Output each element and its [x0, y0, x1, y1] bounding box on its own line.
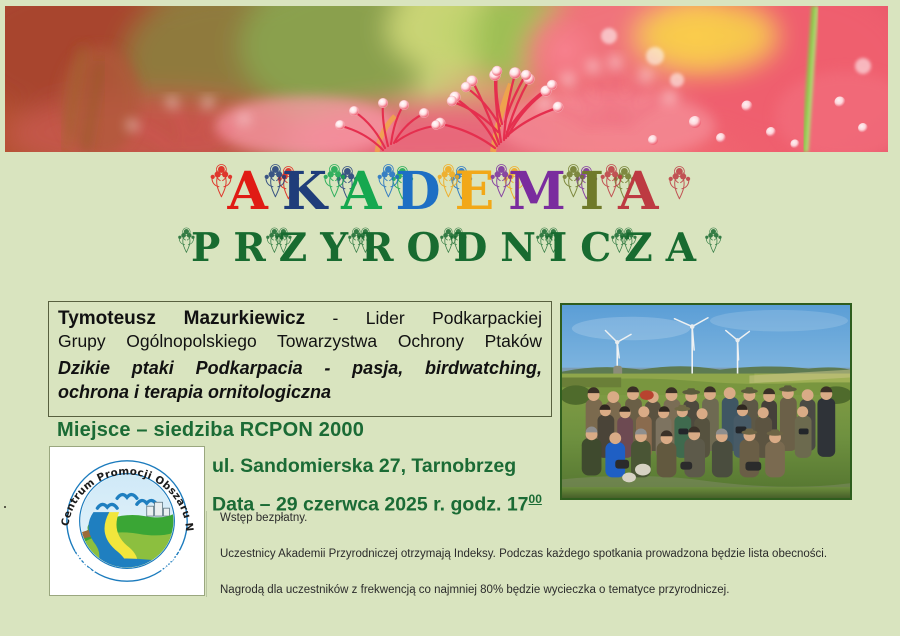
title-akademia: AKADEMIA — [0, 162, 900, 222]
title-letter: Y — [320, 224, 361, 272]
speaker-topic-line1: Dzikie ptaki Podkarpacia - pasja, birdwa… — [58, 356, 542, 380]
title-letter: R — [233, 224, 278, 272]
title-letter: I — [580, 162, 618, 222]
floral-ornament-icon — [667, 164, 692, 201]
title-przyrodnicza: PRZYRODNICZA — [0, 224, 900, 272]
poster-title: AKADEMIA PRZYRODNICZA — [0, 162, 900, 272]
birdwatchers-group-photo — [560, 303, 852, 500]
title-letter: E — [455, 162, 509, 222]
title-letter: Z — [279, 224, 320, 272]
title-letter: R — [361, 224, 406, 272]
title-letter: P — [191, 224, 233, 272]
note-item: Nagrodą dla uczestników z frekwencją co … — [220, 583, 806, 597]
title-letter: C — [580, 224, 624, 272]
sundew-macro-photo — [5, 6, 888, 152]
image-speck — [4, 506, 6, 508]
venue-address: ul. Sandomierska 27, Tarnobrzeg — [212, 450, 542, 483]
speaker-info-box: Tymoteusz Mazurkiewicz - Lider Podkarpac… — [48, 301, 552, 417]
speaker-topic-line2: ochrona i terapia ornitologiczna — [58, 380, 542, 404]
rcpon-logo: Regionalne Centrum Promocji Obszaru Natu… — [49, 446, 205, 596]
speaker-name: Tymoteusz Mazurkiewicz — [58, 308, 305, 329]
title-letter: A — [341, 162, 395, 222]
title-letter: I — [549, 224, 580, 272]
speaker-org-line: Grupy Ogólnopolskiego Towarzystwa Ochron… — [58, 330, 542, 353]
title-letter: K — [282, 162, 341, 222]
title-letter: D — [453, 224, 500, 272]
notes-block: Wstęp bezpłatny. Uczestnicy Akademii Prz… — [206, 511, 806, 597]
title-letter: D — [395, 162, 454, 222]
floral-ornament-icon — [209, 162, 234, 199]
title-letter: A — [228, 162, 282, 222]
poster-root: AKADEMIA PRZYRODNICZA Tymoteusz Mazurkie… — [0, 0, 900, 636]
title-letter: Z — [624, 224, 665, 272]
title-letter: A — [618, 162, 672, 222]
note-item: Wstęp bezpłatny. — [220, 511, 806, 525]
title-letter: A — [666, 224, 709, 272]
floral-ornament-icon — [704, 226, 723, 254]
venue-date-minutes: 00 — [529, 492, 542, 506]
floral-ornament-icon — [177, 226, 196, 254]
title-letter: M — [508, 162, 580, 222]
speaker-role: - Lider Podkarpackiej — [305, 308, 542, 328]
venue-heading: Miejsce – siedziba RCPON 2000 — [57, 419, 364, 442]
title-letter: O — [406, 224, 453, 272]
note-item: Uczestnicy Akademii Przyrodniczej otrzym… — [220, 547, 806, 561]
title-letter: N — [500, 224, 549, 272]
speaker-name-line: Tymoteusz Mazurkiewicz - Lider Podkarpac… — [58, 307, 542, 330]
